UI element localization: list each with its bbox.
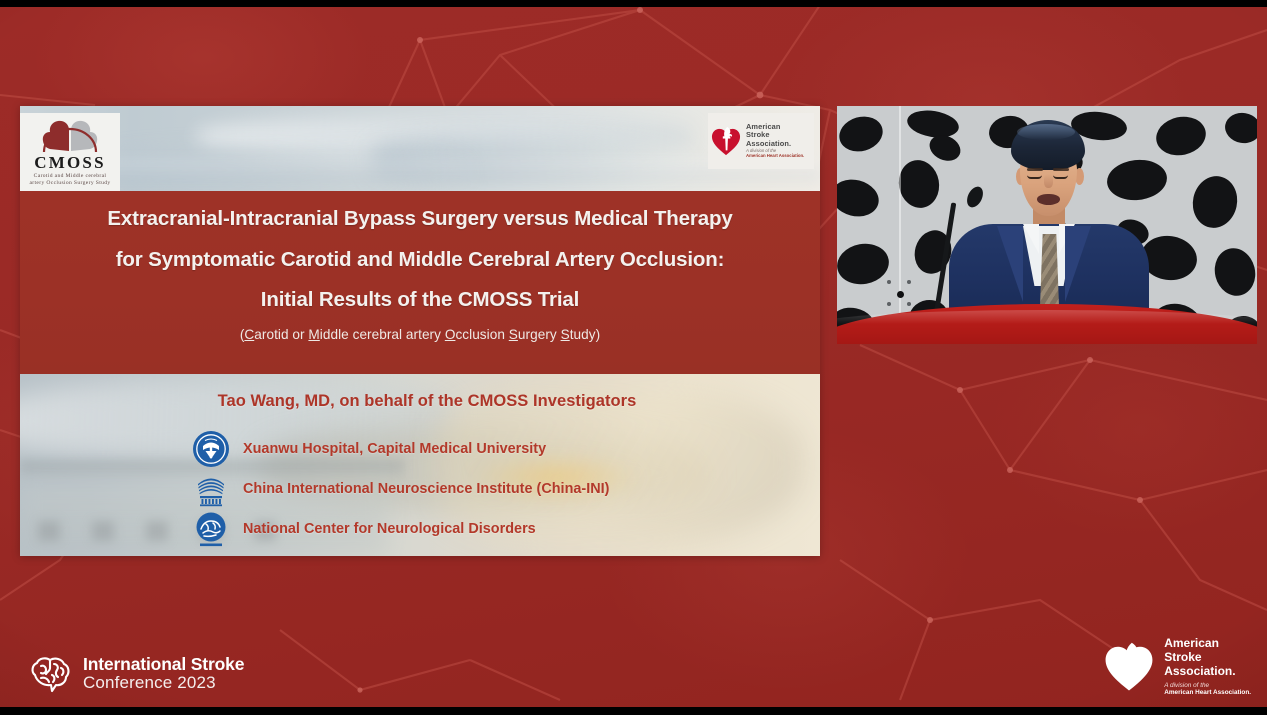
slide-title-line-1: Extracranial-Intracranial Bypass Surgery… [44, 209, 796, 230]
speaker-brow-right [1053, 168, 1069, 171]
asa-branding: American Stroke Association. A division … [1103, 637, 1251, 697]
presentation-slide: CMOSS Carotid and Middle cerebral artery… [20, 106, 820, 556]
slide-header-banner: CMOSS Carotid and Middle cerebral artery… [20, 106, 820, 191]
asa-brand-division-1: A division of the [1164, 682, 1251, 690]
speaker-lapel-right [1065, 226, 1091, 302]
affiliation-label: National Center for Neurological Disorde… [243, 521, 536, 537]
asa-brand-line-2: Stroke [1164, 651, 1251, 665]
slide-presenter-panel: Tao Wang, MD, on behalf of the CMOSS Inv… [20, 374, 820, 556]
asa-brand-division-2: American Heart Association. [1164, 689, 1251, 697]
asa-brand-line-3: Association. [1164, 665, 1251, 679]
slide-title-band: Extracranial-Intracranial Bypass Surgery… [20, 191, 820, 374]
wall-bolt [907, 280, 911, 284]
isc-title-line-2: Conference 2023 [83, 673, 244, 693]
affiliation-label: China International Neuroscience Institu… [243, 481, 609, 497]
speaker-eye-left [1027, 175, 1042, 179]
acronym-text-4: urgery [518, 327, 561, 342]
national-center-neurological-disorders-logo-icon [192, 510, 230, 548]
speaker-video-feed[interactable] [837, 106, 1257, 344]
speaker-necktie [1040, 234, 1059, 306]
affiliation-list: Xuanwu Hospital, Capital Medical Univers… [20, 429, 820, 549]
affiliation-item: National Center for Neurological Disorde… [192, 509, 820, 549]
china-ini-logo-icon [192, 470, 230, 508]
asa-logo-slide: American Stroke Association. A division … [708, 113, 814, 169]
slide-title-line-3: Initial Results of the CMOSS Trial [44, 290, 796, 311]
acronym-letter-o: O [445, 327, 456, 342]
wall-bolt [887, 280, 891, 284]
affiliation-label: Xuanwu Hospital, Capital Medical Univers… [243, 441, 546, 457]
cmoss-logo: CMOSS Carotid and Middle cerebral artery… [20, 113, 120, 191]
wall-seam [899, 106, 901, 344]
speaker-nose [1044, 174, 1053, 188]
affiliation-item: Xuanwu Hospital, Capital Medical Univers… [192, 429, 820, 469]
wall-bolt-center [897, 291, 904, 298]
asa-slide-line-3: Association. [746, 140, 804, 148]
speaker-collar-left [1023, 224, 1039, 254]
affiliation-item: China International Neuroscience Institu… [192, 469, 820, 509]
xuanwu-hospital-logo-icon [192, 430, 230, 468]
speaker-mouth [1037, 194, 1060, 205]
letterbox-bar-bottom [0, 707, 1267, 715]
acronym-text-1: arotid or [254, 327, 308, 342]
asa-slide-division-2: American Heart Association. [746, 154, 804, 159]
acronym-text-5: tudy) [570, 327, 600, 342]
acronym-text-2: iddle cerebral artery [320, 327, 445, 342]
acronym-letter-c: C [244, 327, 254, 342]
letterbox-bar-top [0, 0, 1267, 7]
speaker-lapel-left [997, 226, 1023, 302]
acronym-text-3: cclusion [455, 327, 508, 342]
slide-title-line-2: for Symptomatic Carotid and Middle Cereb… [44, 250, 796, 271]
presenter-name: Tao Wang, MD, on behalf of the CMOSS Inv… [20, 392, 820, 411]
heart-torch-icon [711, 126, 741, 156]
acronym-letter-m: M [308, 327, 319, 342]
acronym-letter-s1: S [509, 327, 518, 342]
cmoss-brain-logo-icon [39, 117, 101, 153]
acronym-letter-s2: S [561, 327, 570, 342]
heart-torch-icon-white [1103, 642, 1155, 692]
speaker-eye-right [1053, 175, 1068, 179]
wall-bolt [887, 302, 891, 306]
cmoss-tagline-line-1: Carotid and Middle cerebral [21, 173, 119, 180]
cmoss-wordmark: CMOSS [34, 154, 105, 171]
slide-acronym-expansion: (Carotid or Middle cerebral artery Occlu… [44, 327, 796, 342]
speaker-brow-left [1027, 168, 1043, 171]
cmoss-tagline-line-2: artery Occlusion Surgery Study [21, 180, 119, 187]
isc-title-line-1: International Stroke [83, 655, 244, 673]
presentation-stage: CMOSS Carotid and Middle cerebral artery… [0, 0, 1267, 715]
brain-outline-icon [28, 655, 72, 693]
isc-conference-branding: International Stroke Conference 2023 [28, 655, 244, 693]
wall-bolt [907, 302, 911, 306]
asa-brand-line-1: American [1164, 637, 1251, 651]
